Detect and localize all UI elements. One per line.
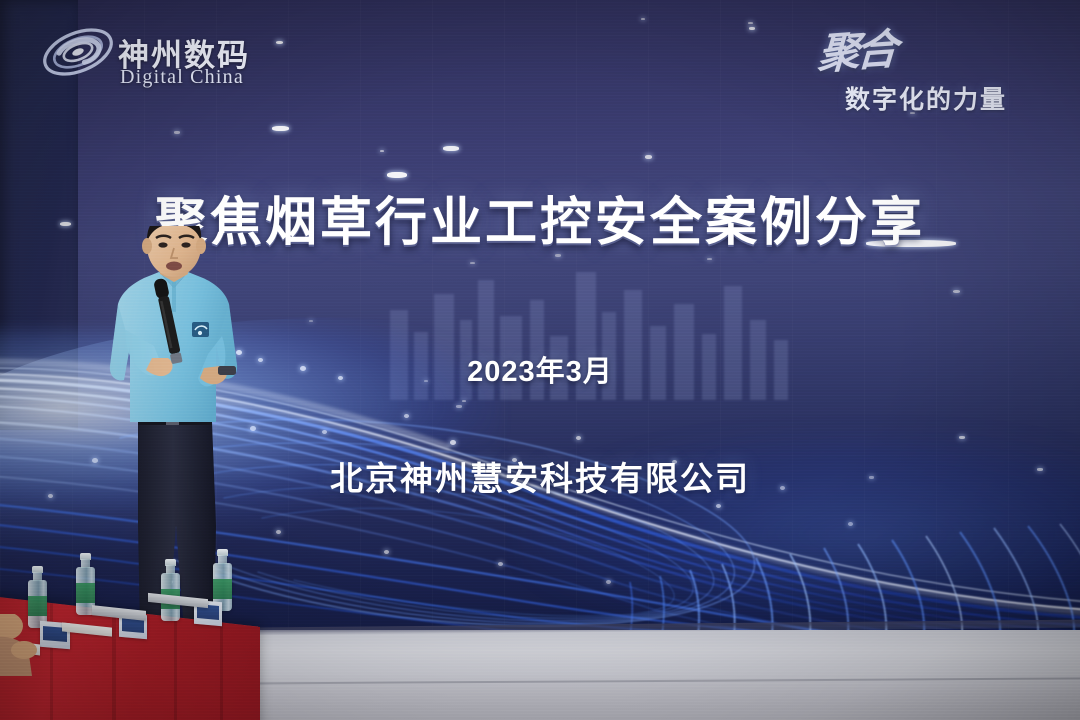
- swirl-light-particle: [576, 436, 581, 440]
- light-particle: [443, 146, 459, 151]
- speaker-shirt-logo: [192, 322, 209, 337]
- light-particle: [749, 27, 755, 30]
- light-particle: [174, 131, 180, 134]
- brand-name-english: Digital China: [120, 66, 244, 89]
- swirl-light-particle: [450, 440, 456, 445]
- light-particle: [645, 155, 652, 159]
- light-particle: [272, 126, 289, 131]
- foreground-attendee: [0, 614, 64, 676]
- swirl-light-particle: [276, 530, 281, 534]
- light-particle: [380, 150, 384, 152]
- light-particle: [748, 22, 753, 24]
- event-slogan: 数字化的力量: [845, 80, 1007, 116]
- swirl-light-particle: [848, 522, 853, 526]
- stage-photo: 神州数码 Digital China 聚合 数字化的力量 聚焦烟草行业工控安全案…: [0, 0, 1080, 720]
- swirl-light-particle: [606, 580, 611, 584]
- light-particle: [387, 172, 407, 178]
- digital-china-swirl-icon: [40, 16, 116, 88]
- light-particle: [953, 290, 960, 293]
- swirl-light-particle: [498, 562, 503, 566]
- swirl-light-particle: [384, 550, 389, 554]
- swirl-light-particle: [322, 430, 327, 434]
- speaker-presenter: [96, 226, 276, 630]
- presentation-clicker: [218, 366, 236, 375]
- swirl-light-particle: [716, 504, 721, 508]
- digital-china-logo: 神州数码 Digital China: [40, 14, 280, 94]
- swirl-light-particle: [404, 414, 409, 418]
- speaker-mouth: [166, 262, 182, 271]
- light-particle: [641, 18, 645, 20]
- light-particle: [470, 262, 475, 264]
- light-particle: [707, 258, 712, 260]
- event-calligraphy-mark: 聚合: [816, 15, 895, 82]
